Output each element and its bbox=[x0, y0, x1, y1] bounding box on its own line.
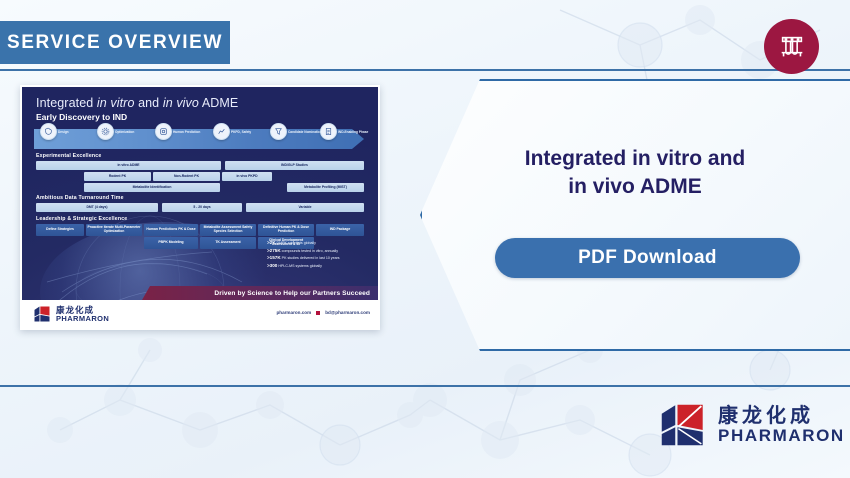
table-cell: Proactive Iterate Multi-Parameter Optimi… bbox=[86, 224, 142, 236]
table-cell: 5 - 20 days bbox=[162, 203, 242, 212]
page-title-line2: in vivo ADME bbox=[470, 173, 800, 201]
table-cell: Definitive Human PK & Dose Prediction bbox=[258, 224, 314, 236]
table-cell: DMT (4 days) bbox=[36, 203, 158, 212]
section-heading-turnaround: Ambitious Data Turnaround Time bbox=[36, 195, 124, 201]
mail-square-icon bbox=[316, 311, 320, 315]
brochure-footer: 康龙化成 PHARMARON pharmaron.com bd@pharmaro… bbox=[22, 300, 378, 328]
website-text: pharmaron.com bbox=[276, 310, 311, 315]
test-tube-rack-icon bbox=[764, 19, 819, 74]
footer-pharmaron-logo: 康龙化成 PHARMARON bbox=[655, 398, 845, 452]
table-cell: Non-Rodent PK bbox=[153, 172, 220, 181]
table-cell: IND Package bbox=[316, 224, 364, 236]
process-step-human-prediction: Human Prediction bbox=[155, 123, 200, 140]
logo-en-text: PHARMARON bbox=[56, 315, 109, 323]
page-root: SERVICE OVERVIEW bbox=[0, 0, 850, 478]
table-cell: Define Strategies bbox=[36, 224, 84, 236]
statistics-list: >2K DMPK scientists globally >275K compo… bbox=[267, 239, 372, 269]
list-item: >300 HPLC-MS systems globally bbox=[267, 262, 372, 270]
process-step-pkpd-safety: PKPD, Safety bbox=[213, 123, 251, 140]
service-overview-label: SERVICE OVERVIEW bbox=[7, 32, 223, 54]
table-cell: PBPK Modeling bbox=[144, 237, 198, 249]
list-item: >2K DMPK scientists globally bbox=[267, 239, 372, 247]
page-title-line1: Integrated in vitro and bbox=[470, 145, 800, 173]
table-cell: Human Predictions PK & Dose bbox=[144, 224, 198, 236]
pdf-download-label: PDF Download bbox=[578, 247, 717, 269]
footer-logo-cn: 康龙化成 bbox=[718, 406, 845, 427]
chart-icon bbox=[213, 123, 230, 140]
document-icon bbox=[320, 123, 337, 140]
email-text: bd@pharmaron.com bbox=[325, 310, 370, 315]
brochure-thumbnail-image: Integrated in vitro and in vivo ADME Ear… bbox=[22, 87, 378, 328]
service-overview-banner: SERVICE OVERVIEW bbox=[0, 21, 230, 64]
brochure-subtitle: Early Discovery to IND bbox=[36, 112, 127, 122]
gear-icon bbox=[97, 123, 114, 140]
logo-cn-text: 康龙化成 bbox=[56, 306, 109, 315]
pdf-download-button[interactable]: PDF Download bbox=[495, 238, 800, 278]
table-cell: in vitro ADME bbox=[36, 161, 221, 170]
funnel-icon bbox=[270, 123, 287, 140]
process-step-ind-enabling: IND-Enabling Phase bbox=[320, 123, 368, 140]
table-cell: in vivo PKPD bbox=[222, 172, 272, 181]
list-item: >275K compounds tested in vitro, annuall… bbox=[267, 247, 372, 255]
pharmaron-logo-icon bbox=[655, 398, 709, 452]
pharmaron-logo-icon: 康龙化成 PHARMARON bbox=[32, 304, 109, 324]
table-cell: Metabolite Identification bbox=[84, 183, 220, 192]
section-heading-leadership: Leadership & Strategic Excellence bbox=[36, 216, 127, 222]
table-cell: Metabolite Assessment Safety Species Sel… bbox=[200, 224, 256, 236]
table-cell: Metabolite Profiling (MIST) bbox=[287, 183, 364, 192]
content-hexagon-panel bbox=[420, 79, 850, 351]
brain-icon bbox=[40, 123, 57, 140]
page-title: Integrated in vitro and in vivo ADME bbox=[470, 145, 800, 202]
table-cell: Variable bbox=[246, 203, 364, 212]
table-cell: IND/GLP Studies bbox=[225, 161, 364, 170]
process-step-optimization: Optimization bbox=[97, 123, 134, 140]
bottom-divider-line bbox=[0, 385, 850, 387]
process-step-candidate-nomination: Candidate Nomination bbox=[270, 123, 322, 140]
list-item: >157K PK studies delivered in last 10 ye… bbox=[267, 254, 372, 262]
brochure-thumbnail[interactable]: Integrated in vitro and in vivo ADME Ear… bbox=[20, 85, 380, 330]
process-step-design: Design bbox=[40, 123, 69, 140]
brochure-contact-links: pharmaron.com bd@pharmaron.com bbox=[276, 310, 370, 315]
section-heading-experimental: Experimental Excellence bbox=[36, 153, 101, 159]
tagline-ribbon: Driven by Science to Help our Partners S… bbox=[142, 286, 378, 300]
footer-logo-en: PHARMARON bbox=[718, 427, 845, 445]
table-cell: Rodent PK bbox=[84, 172, 151, 181]
brochure-title: Integrated in vitro and in vivo ADME bbox=[36, 96, 238, 110]
top-divider-line bbox=[0, 69, 850, 71]
target-icon bbox=[155, 123, 172, 140]
table-cell: TK Assessment bbox=[200, 237, 256, 249]
